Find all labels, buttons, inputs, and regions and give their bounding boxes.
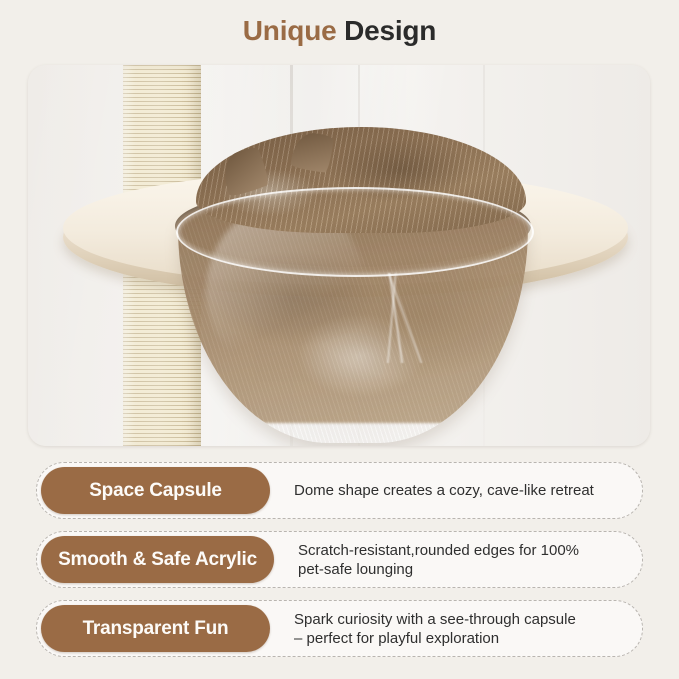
cat-tail [458, 157, 544, 201]
page-title-accent: Unique [243, 15, 337, 46]
feature-description: Dome shape creates a cozy, cave-like ret… [294, 481, 642, 500]
dome-rim [176, 187, 534, 277]
photo-background [28, 65, 650, 446]
feature-badge-space-capsule: Space Capsule [41, 467, 270, 514]
feature-description: Spark curiosity with a see-through capsu… [294, 610, 642, 648]
feature-list: Space Capsule Dome shape creates a cozy,… [36, 462, 643, 669]
title-space [336, 15, 344, 46]
feature-row: Smooth & Safe Acrylic Scratch-resistant,… [36, 531, 643, 588]
feature-description: Scratch-resistant,rounded edges for 100%… [298, 541, 642, 579]
feature-badge-transparent-fun: Transparent Fun [41, 605, 270, 652]
page-title: Unique Design [0, 0, 679, 50]
feature-row: Transparent Fun Spark curiosity with a s… [36, 600, 643, 657]
page-title-rest: Design [344, 15, 436, 46]
feature-row: Space Capsule Dome shape creates a cozy,… [36, 462, 643, 519]
product-photo [28, 65, 650, 446]
feature-badge-smooth-safe-acrylic: Smooth & Safe Acrylic [41, 536, 274, 583]
